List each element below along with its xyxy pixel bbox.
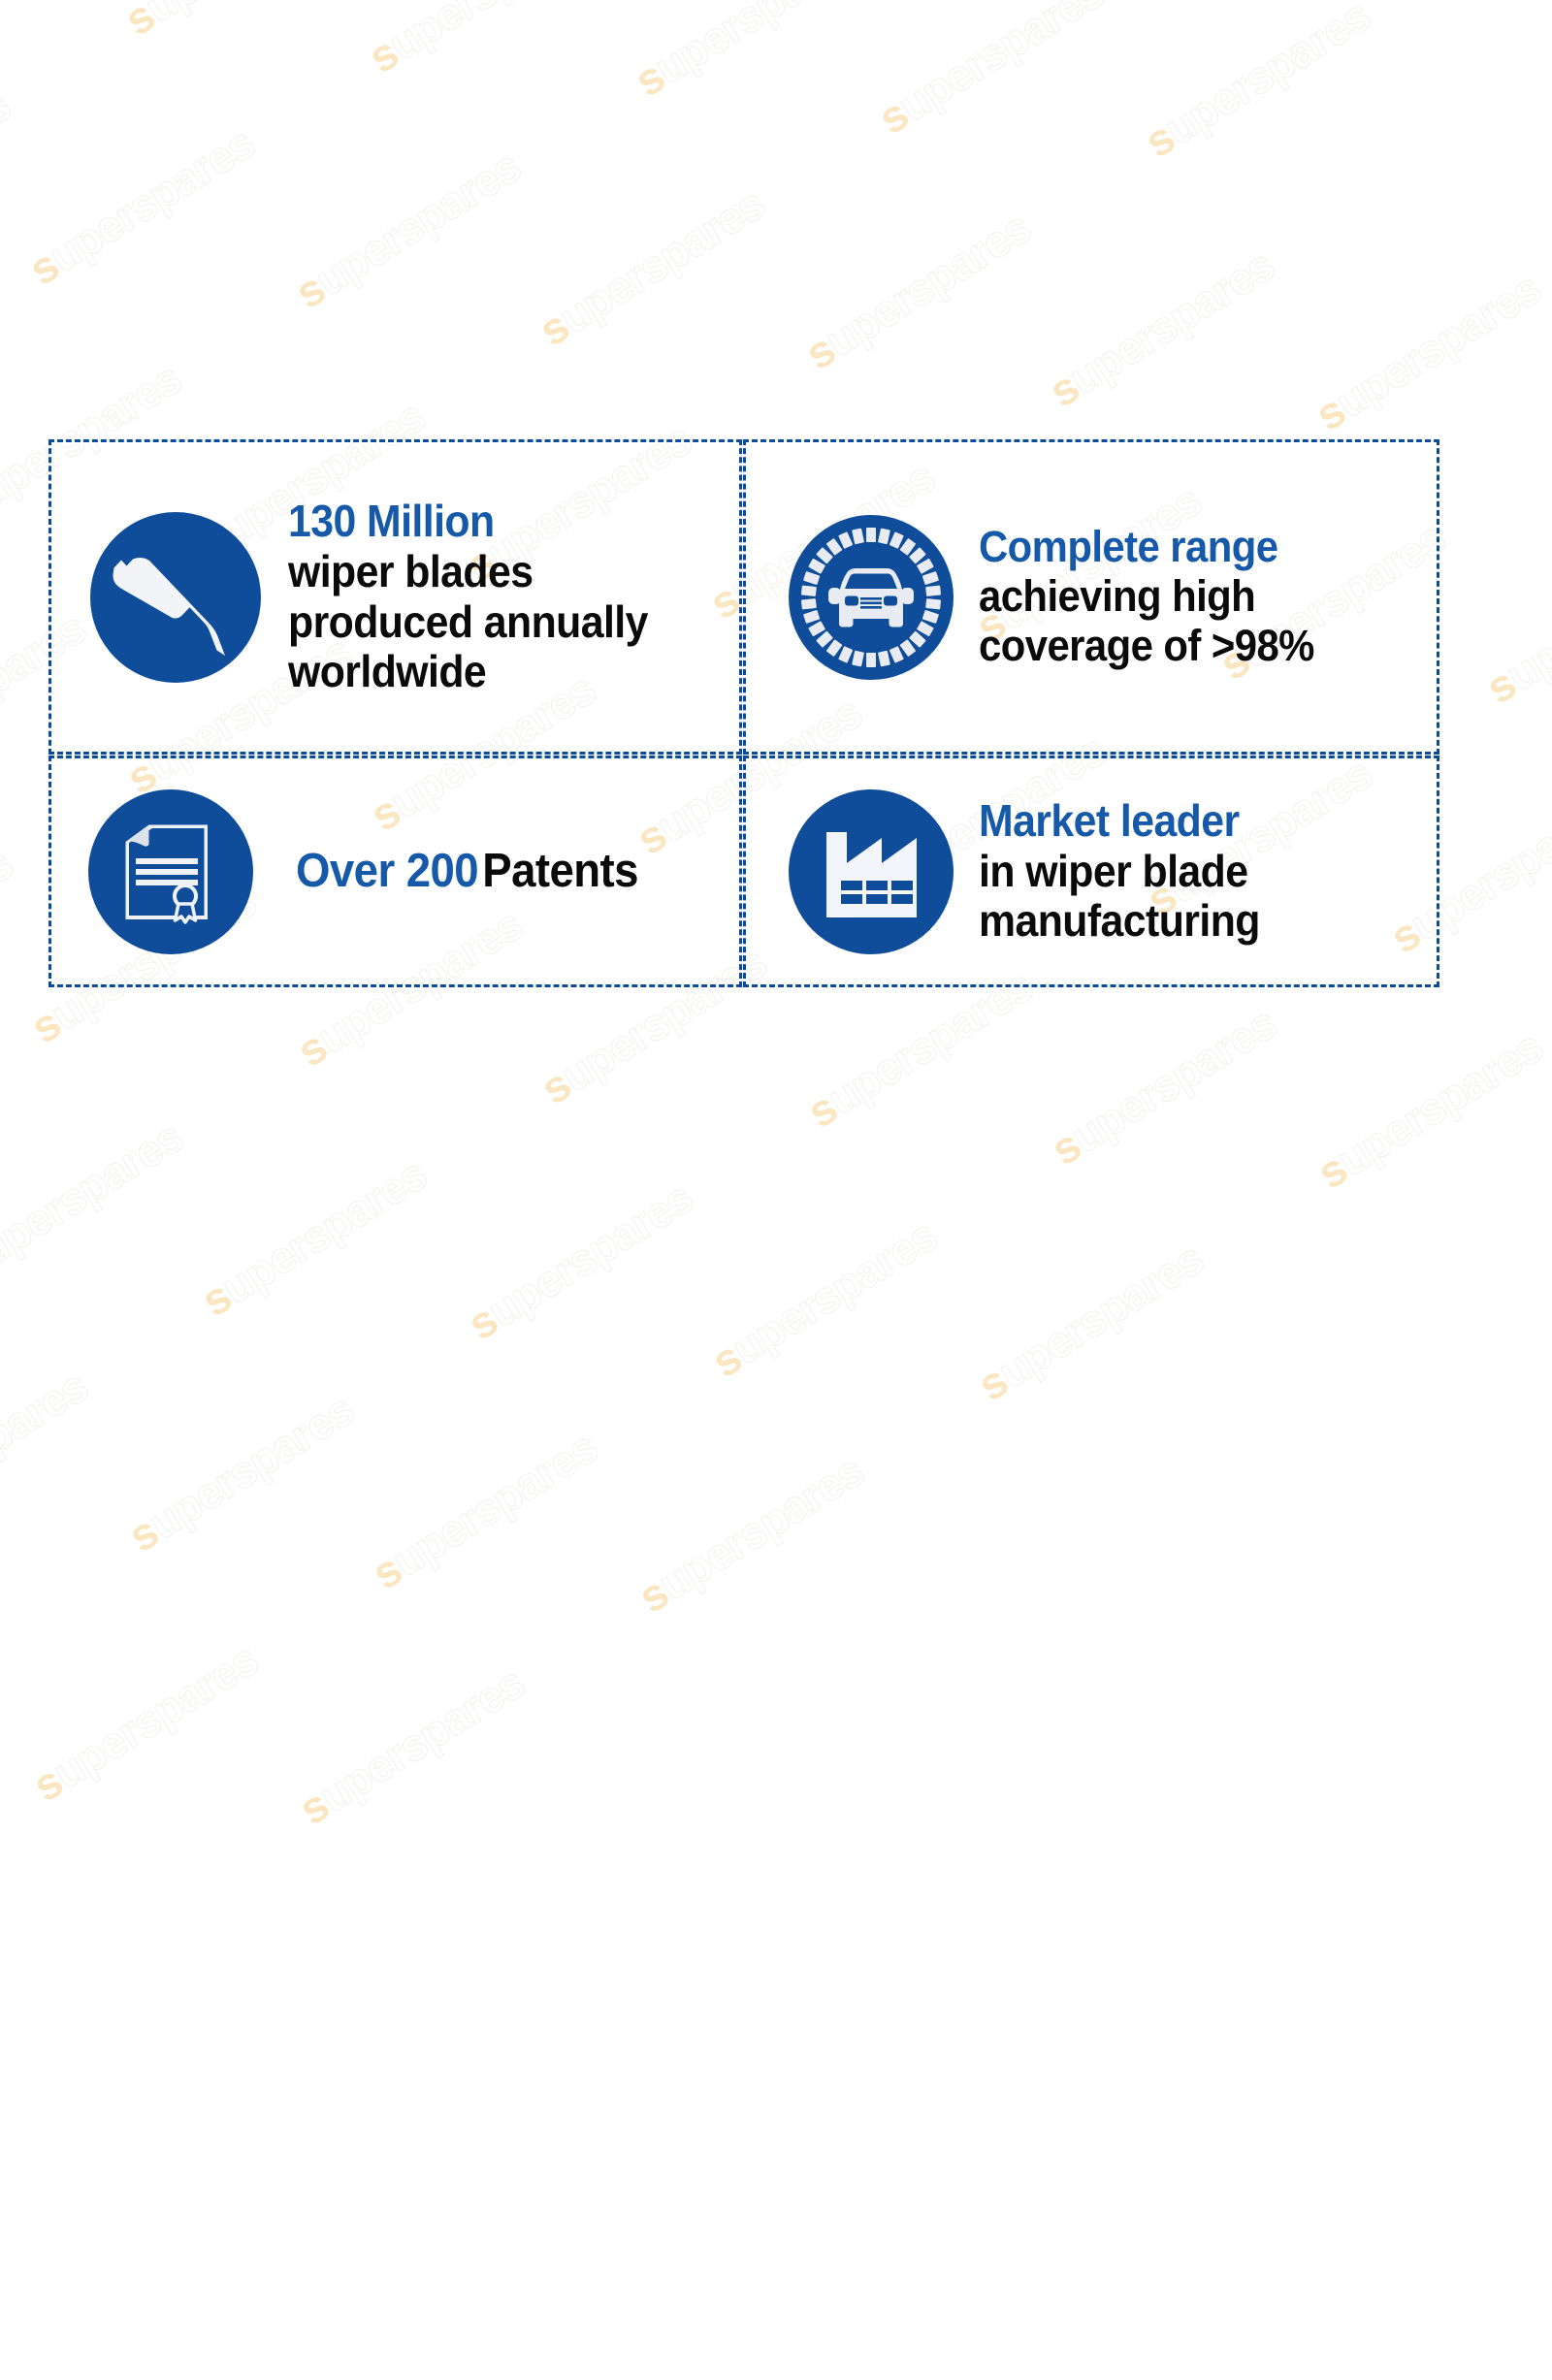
panel-inline-line: Over 200 Patents	[296, 845, 708, 898]
panel-line: Patents	[482, 845, 638, 897]
watermark-rest: uperspares	[140, 1384, 362, 1549]
panel-line: produced annually	[288, 597, 707, 648]
watermark-lead: s	[1309, 1143, 1355, 1199]
watermark-row: superspares superspares superspares supe…	[0, 0, 1170, 443]
watermark-text: superspares	[121, 1386, 361, 1559]
watermark-rest: uperspares	[0, 0, 92, 9]
watermark-rest: uperspares	[40, 117, 262, 282]
watermark-text: superspares	[532, 180, 771, 353]
panel-text-block: 130 Million wiper blades produced annual…	[271, 497, 739, 698]
watermark-lead: s	[192, 1270, 239, 1326]
watermark-rest: uperspares	[212, 1148, 435, 1313]
watermark-text: superspares	[0, 840, 19, 1013]
watermark-rest: uperspares	[1156, 0, 1378, 154]
panel-headline: Complete range	[979, 523, 1405, 572]
watermark-rest: uperspares	[0, 1110, 191, 1275]
watermark-text: superspares	[704, 1212, 944, 1385]
watermark-lead: s	[869, 88, 916, 144]
watermark-text: superspares	[25, 1636, 265, 1809]
watermark-rest: uperspares	[889, 0, 1112, 131]
watermark-rest: uperspares	[1327, 263, 1549, 428]
watermark-text: superspares	[970, 1236, 1210, 1408]
watermark-text: superspares	[117, 0, 357, 43]
watermark-text: superspares	[361, 0, 600, 80]
watermark-rest: uperspares	[383, 1422, 605, 1587]
watermark-text: superspares	[1042, 241, 1281, 414]
watermark-lead: s	[626, 50, 672, 106]
watermark-lead: s	[969, 1355, 1016, 1410]
watermark-lead: s	[24, 1755, 71, 1811]
watermark-lead: s	[1307, 385, 1353, 440]
watermark-text: superspares	[292, 1659, 532, 1832]
panel-headline: Market leader	[979, 796, 1405, 847]
panel-headline: Over 200	[296, 845, 478, 897]
car-coverage-icon	[781, 507, 961, 688]
watermark-rest: uperspares	[646, 0, 868, 94]
watermark-text: superspares	[288, 144, 528, 316]
feature-panel-coverage: Complete range achieving high coverage o…	[743, 439, 1439, 755]
watermark-rest: uperspares	[379, 0, 601, 70]
watermark-text: superspares	[628, 0, 867, 104]
watermark-text: superspares	[871, 0, 1111, 142]
watermark-text: superspares	[1137, 0, 1376, 165]
panel-text-block: Market leader in wiper blade manufacturi…	[961, 796, 1437, 948]
watermark-lead: s	[1136, 112, 1182, 167]
watermark-text: superspares	[21, 119, 261, 292]
watermark-rest: uperspares	[310, 1656, 533, 1821]
wiper-blade-icon	[81, 502, 271, 692]
panel-line: worldwide	[288, 647, 707, 697]
panel-line: in wiper blade	[979, 847, 1405, 897]
watermark-text: superspares	[0, 1363, 94, 1535]
watermark-rest: uperspares	[44, 1633, 266, 1798]
watermark-rest: uperspares	[1060, 240, 1282, 404]
watermark-lead: s	[286, 263, 333, 318]
watermark-lead: s	[119, 1506, 166, 1561]
panel-text-block: Over 200 Patents	[261, 845, 739, 898]
watermark-rest: uperspares	[0, 1361, 96, 1526]
watermark-text: superspares	[631, 1447, 871, 1620]
watermark-lead: s	[363, 1544, 409, 1599]
watermark-rest: uperspares	[307, 141, 529, 306]
watermark-lead: s	[20, 240, 67, 295]
watermark-lead: s	[360, 27, 406, 82]
feature-panel-patents: Over 200 Patents	[48, 756, 742, 987]
watermark-rest: uperspares	[0, 838, 21, 1003]
watermark-text: superspares	[0, 0, 90, 19]
watermark-text: superspares	[461, 1174, 700, 1347]
panel-line: manufacturing	[979, 896, 1405, 947]
watermark-rest: uperspares	[723, 1209, 945, 1374]
feature-panel-grid: 130 Million wiper blades produced annual…	[48, 439, 1503, 1075]
panel-line: achieving high	[979, 572, 1405, 622]
watermark-lead: s	[530, 301, 576, 356]
watermark-rest: uperspares	[650, 1445, 872, 1610]
watermark-lead: s	[115, 0, 162, 46]
watermark-text: superspares	[0, 82, 17, 255]
watermark-rest: uperspares	[817, 202, 1039, 367]
watermark-text: superspares	[194, 1151, 434, 1324]
watermark-lead: s	[290, 1780, 337, 1835]
watermark-lead: s	[1042, 1119, 1088, 1174]
watermark-lead: s	[1040, 362, 1086, 417]
watermark-layer: superspares superspares superspares supe…	[0, 0, 1552, 2380]
panel-line: wiper blades	[288, 547, 707, 597]
watermark-lead: s	[798, 1082, 845, 1138]
watermark-text: superspares	[365, 1424, 604, 1596]
panel-headline: 130 Million	[288, 497, 707, 547]
watermark-lead: s	[702, 1332, 749, 1387]
watermark-rest: uperspares	[550, 178, 772, 343]
watermark-rest: uperspares	[479, 1172, 701, 1336]
watermark-text: superspares	[798, 204, 1038, 376]
watermark-rest: uperspares	[989, 1233, 1212, 1398]
watermark-text: superspares	[1308, 265, 1547, 437]
panel-line: coverage of >98%	[979, 622, 1405, 671]
patent-certificate-icon	[81, 782, 261, 962]
watermark-rest: uperspares	[136, 0, 358, 33]
watermark-lead: s	[796, 324, 843, 379]
watermark-rest: uperspares	[1498, 535, 1552, 700]
watermark-rest: uperspares	[0, 80, 19, 244]
watermark-lead: s	[630, 1567, 676, 1623]
watermark-lead: s	[459, 1294, 505, 1349]
watermark-text: superspares	[0, 1113, 190, 1286]
feature-panel-wiper-production: 130 Million wiper blades produced annual…	[48, 439, 742, 755]
panel-text-block: Complete range achieving high coverage o…	[961, 523, 1437, 671]
feature-panel-market-leader: Market leader in wiper blade manufacturi…	[743, 756, 1439, 987]
factory-icon	[781, 782, 961, 962]
